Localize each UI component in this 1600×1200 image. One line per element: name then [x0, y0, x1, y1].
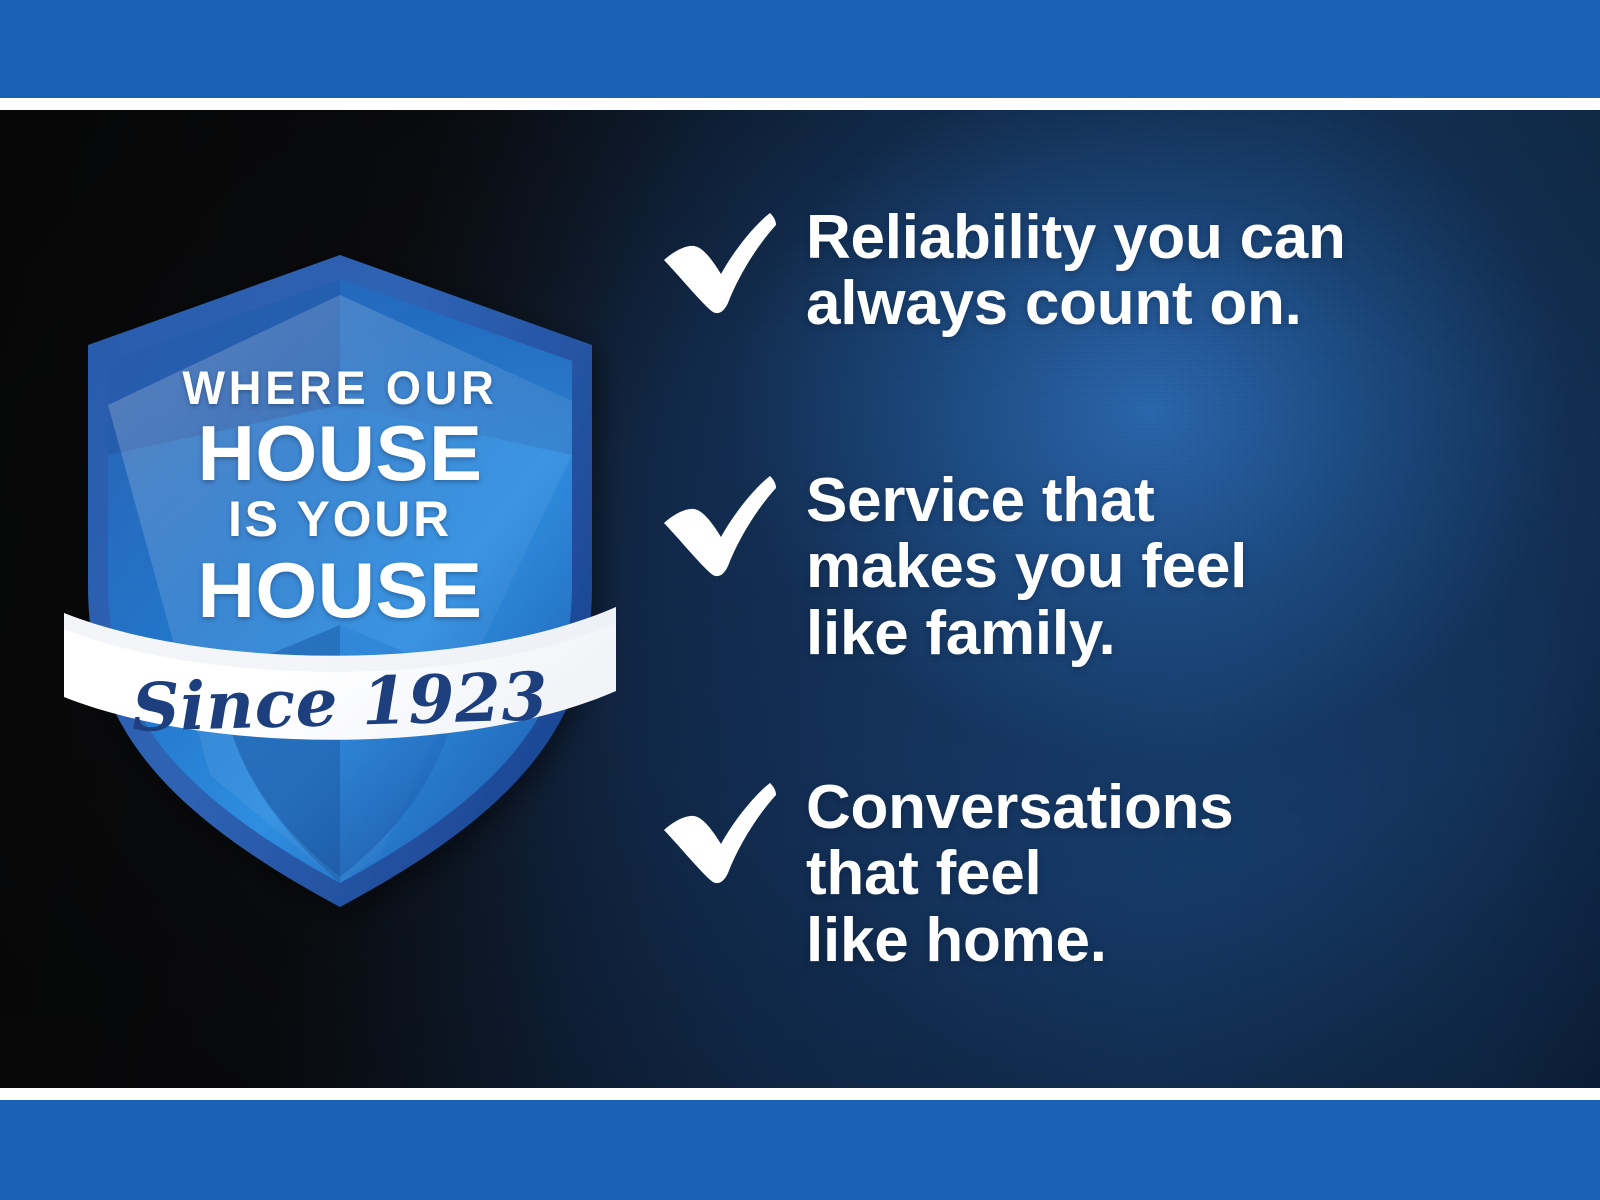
benefit-item-3: Conversations that feel like home.: [660, 775, 1233, 974]
check-icon: [660, 781, 778, 889]
bottom-brand-bar: [0, 1100, 1600, 1200]
benefit-text-3: Conversations that feel like home.: [806, 775, 1233, 974]
benefit-item-1: Reliability you can always count on.: [660, 205, 1346, 338]
check-icon: [660, 211, 778, 319]
bottom-divider: [0, 1088, 1600, 1100]
benefit-item-2: Service that makes you feel like family.: [660, 468, 1247, 667]
shield-badge-graphic: [60, 155, 620, 945]
benefit-text-2: Service that makes you feel like family.: [806, 468, 1247, 667]
top-brand-bar: [0, 0, 1600, 98]
shield-badge: WHERE OUR HOUSE IS YOUR HOUSE Since 1923: [60, 155, 620, 945]
promo-graphic: WHERE OUR HOUSE IS YOUR HOUSE Since 1923…: [0, 0, 1600, 1200]
top-divider: [0, 98, 1600, 110]
benefit-text-1: Reliability you can always count on.: [806, 205, 1346, 338]
benefits-list: Reliability you can always count on. Ser…: [660, 110, 1540, 1088]
check-icon: [660, 474, 778, 582]
